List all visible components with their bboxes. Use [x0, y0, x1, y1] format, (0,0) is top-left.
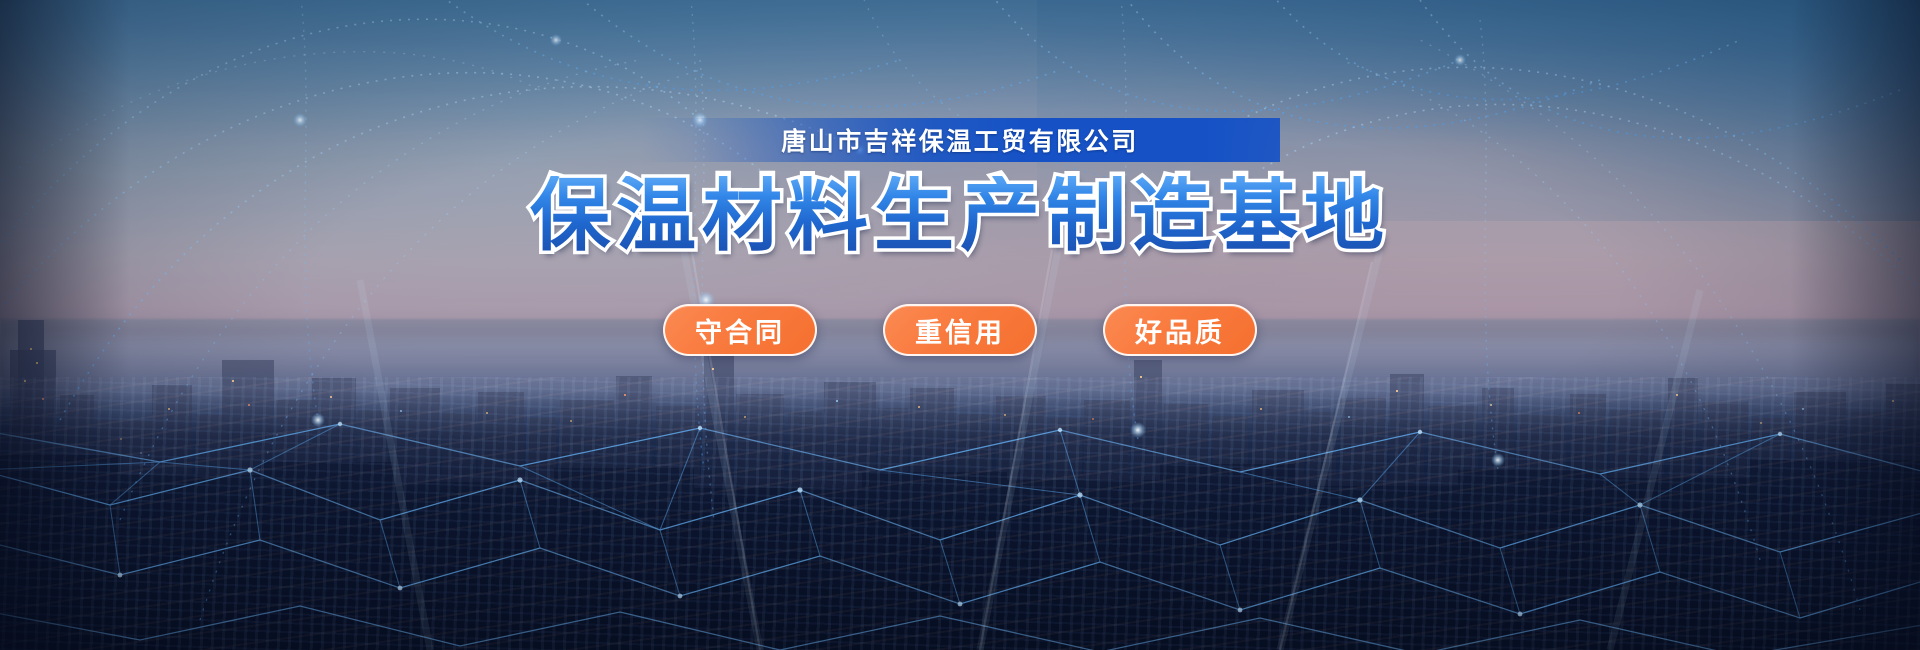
headline-block: 保温材料生产制造基地 保温材料生产制造基地	[530, 176, 1390, 256]
banner-content: 唐山市吉祥保温工贸有限公司 保温材料生产制造基地 保温材料生产制造基地 守合同 …	[0, 0, 1920, 650]
company-name-bar: 唐山市吉祥保温工贸有限公司	[640, 118, 1280, 162]
headline-text: 保温材料生产制造基地	[530, 176, 1390, 256]
hero-banner: 唐山市吉祥保温工贸有限公司 保温材料生产制造基地 保温材料生产制造基地 守合同 …	[0, 0, 1920, 650]
pill-zhong-xin-yong[interactable]: 重信用	[883, 304, 1037, 356]
pill-shou-he-tong[interactable]: 守合同	[663, 304, 817, 356]
feature-pill-group: 守合同 重信用 好品质	[663, 304, 1257, 356]
company-name-text: 唐山市吉祥保温工贸有限公司	[781, 122, 1139, 158]
pill-hao-pin-zhi[interactable]: 好品质	[1103, 304, 1257, 356]
